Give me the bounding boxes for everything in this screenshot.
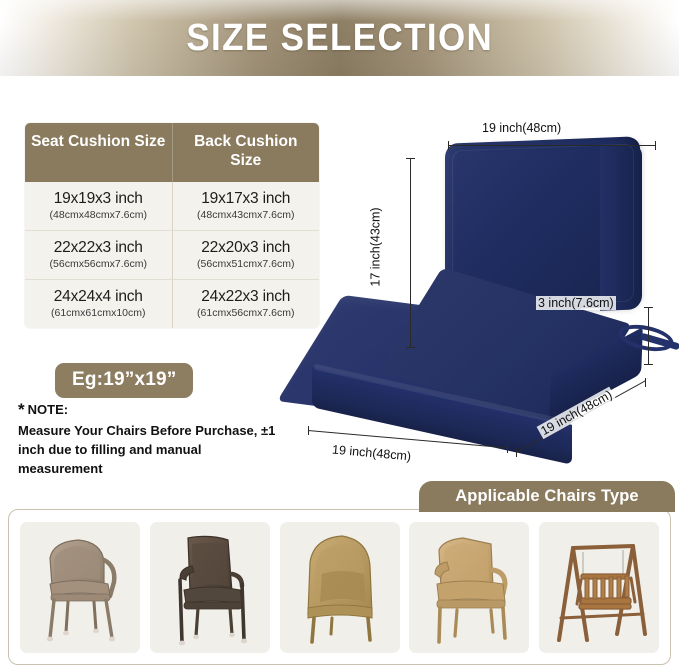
seat-size-cell: 24x24x4 inch (61cmx61cmx10cm)	[25, 280, 173, 328]
page-title: SIZE SELECTION	[186, 17, 493, 60]
table-header-row: Seat Cushion Size Back Cushion Size	[25, 123, 319, 182]
table-row: 22x22x3 inch (56cmx56cmx7.6cm) 22x20x3 i…	[25, 230, 319, 279]
page-header: SIZE SELECTION	[0, 0, 679, 76]
applicable-chairs-banner: Applicable Chairs Type	[419, 481, 675, 512]
back-size-inch: 24x22x3 inch	[177, 288, 316, 306]
seat-size-inch: 24x24x4 inch	[29, 288, 168, 306]
chair-card	[20, 522, 140, 653]
dimension-tick-right	[645, 378, 646, 387]
seat-size-inch: 19x19x3 inch	[29, 190, 168, 208]
back-size-cell: 19x17x3 inch (48cmx43cmx7.6cm)	[173, 182, 320, 230]
dimension-label-seat-front: 19 inch(48cm)	[330, 442, 414, 463]
chair-card	[280, 522, 400, 653]
back-size-inch: 22x20x3 inch	[177, 239, 316, 257]
back-size-cm: (48cmx43cmx7.6cm)	[177, 209, 316, 221]
applicable-chairs-panel	[8, 509, 671, 665]
back-size-cell: 24x22x3 inch (61cmx56cmx7.6cm)	[173, 280, 320, 328]
natural-rattan-armchair-icon	[409, 522, 529, 653]
dimension-tick-left	[516, 448, 517, 457]
dimension-label-back-height: 17 inch(43cm)	[369, 205, 383, 288]
chair-card	[150, 522, 270, 653]
dimension-line-thickness	[648, 307, 649, 365]
size-table: Seat Cushion Size Back Cushion Size 19x1…	[25, 123, 319, 328]
back-size-cell: 22x20x3 inch (56cmx51cmx7.6cm)	[173, 231, 320, 279]
back-size-cm: (56cmx51cmx7.6cm)	[177, 258, 316, 270]
seat-size-inch: 22x22x3 inch	[29, 239, 168, 257]
dimension-label-thickness: 3 inch(7.6cm)	[536, 296, 616, 310]
back-size-cm: (61cmx56cmx7.6cm)	[177, 307, 316, 319]
column-header-back-cushion: Back Cushion Size	[173, 123, 320, 182]
dark-brown-wicker-highback-armchair-icon	[150, 522, 270, 653]
example-size-badge: Eg:19”x19”	[55, 363, 193, 398]
note-heading: *NOTE:	[18, 400, 280, 420]
tan-rattan-barrel-chair-icon	[280, 522, 400, 653]
note-block: *NOTE: Measure Your Chairs Before Purcha…	[18, 400, 280, 479]
chair-card	[409, 522, 529, 653]
dimension-tick-left	[308, 426, 309, 435]
dimension-tick-left	[448, 141, 449, 150]
seat-size-cm: (61cmx61cmx10cm)	[29, 307, 168, 319]
table-row: 24x24x4 inch (61cmx61cmx10cm) 24x22x3 in…	[25, 279, 319, 328]
dimension-line-back-height	[410, 158, 411, 348]
wooden-porch-swing-icon	[539, 522, 659, 653]
dimension-label-back-width: 19 inch(48cm)	[480, 121, 563, 135]
column-header-seat-cushion: Seat Cushion Size	[25, 123, 173, 182]
back-size-inch: 19x17x3 inch	[177, 190, 316, 208]
seat-size-cell: 19x19x3 inch (48cmx48cmx7.6cm)	[25, 182, 173, 230]
seat-size-cm: (56cmx56cmx7.6cm)	[29, 258, 168, 270]
cushion-illustration: 19 inch(48cm) 17 inch(43cm) 3 inch(7.6cm…	[300, 100, 679, 480]
asterisk-icon: *	[18, 400, 25, 419]
note-body: Measure Your Chairs Before Purchase, ±1 …	[18, 422, 280, 479]
seat-size-cm: (48cmx48cmx7.6cm)	[29, 209, 168, 221]
dimension-tick-top	[406, 158, 415, 159]
dimension-tick-right	[655, 141, 656, 150]
dimension-tick-bottom	[406, 347, 415, 348]
seat-size-cell: 22x22x3 inch (56cmx56cmx7.6cm)	[25, 231, 173, 279]
table-row: 19x19x3 inch (48cmx48cmx7.6cm) 19x17x3 i…	[25, 182, 319, 230]
taupe-wicker-barrel-armchair-icon	[20, 522, 140, 653]
dimension-tick-bottom	[644, 364, 653, 365]
chair-card	[539, 522, 659, 653]
note-heading-text: NOTE:	[28, 402, 68, 417]
dimension-line-back-width	[448, 145, 656, 146]
dimension-tick-right	[507, 444, 508, 453]
dimension-tick-top	[644, 307, 653, 308]
